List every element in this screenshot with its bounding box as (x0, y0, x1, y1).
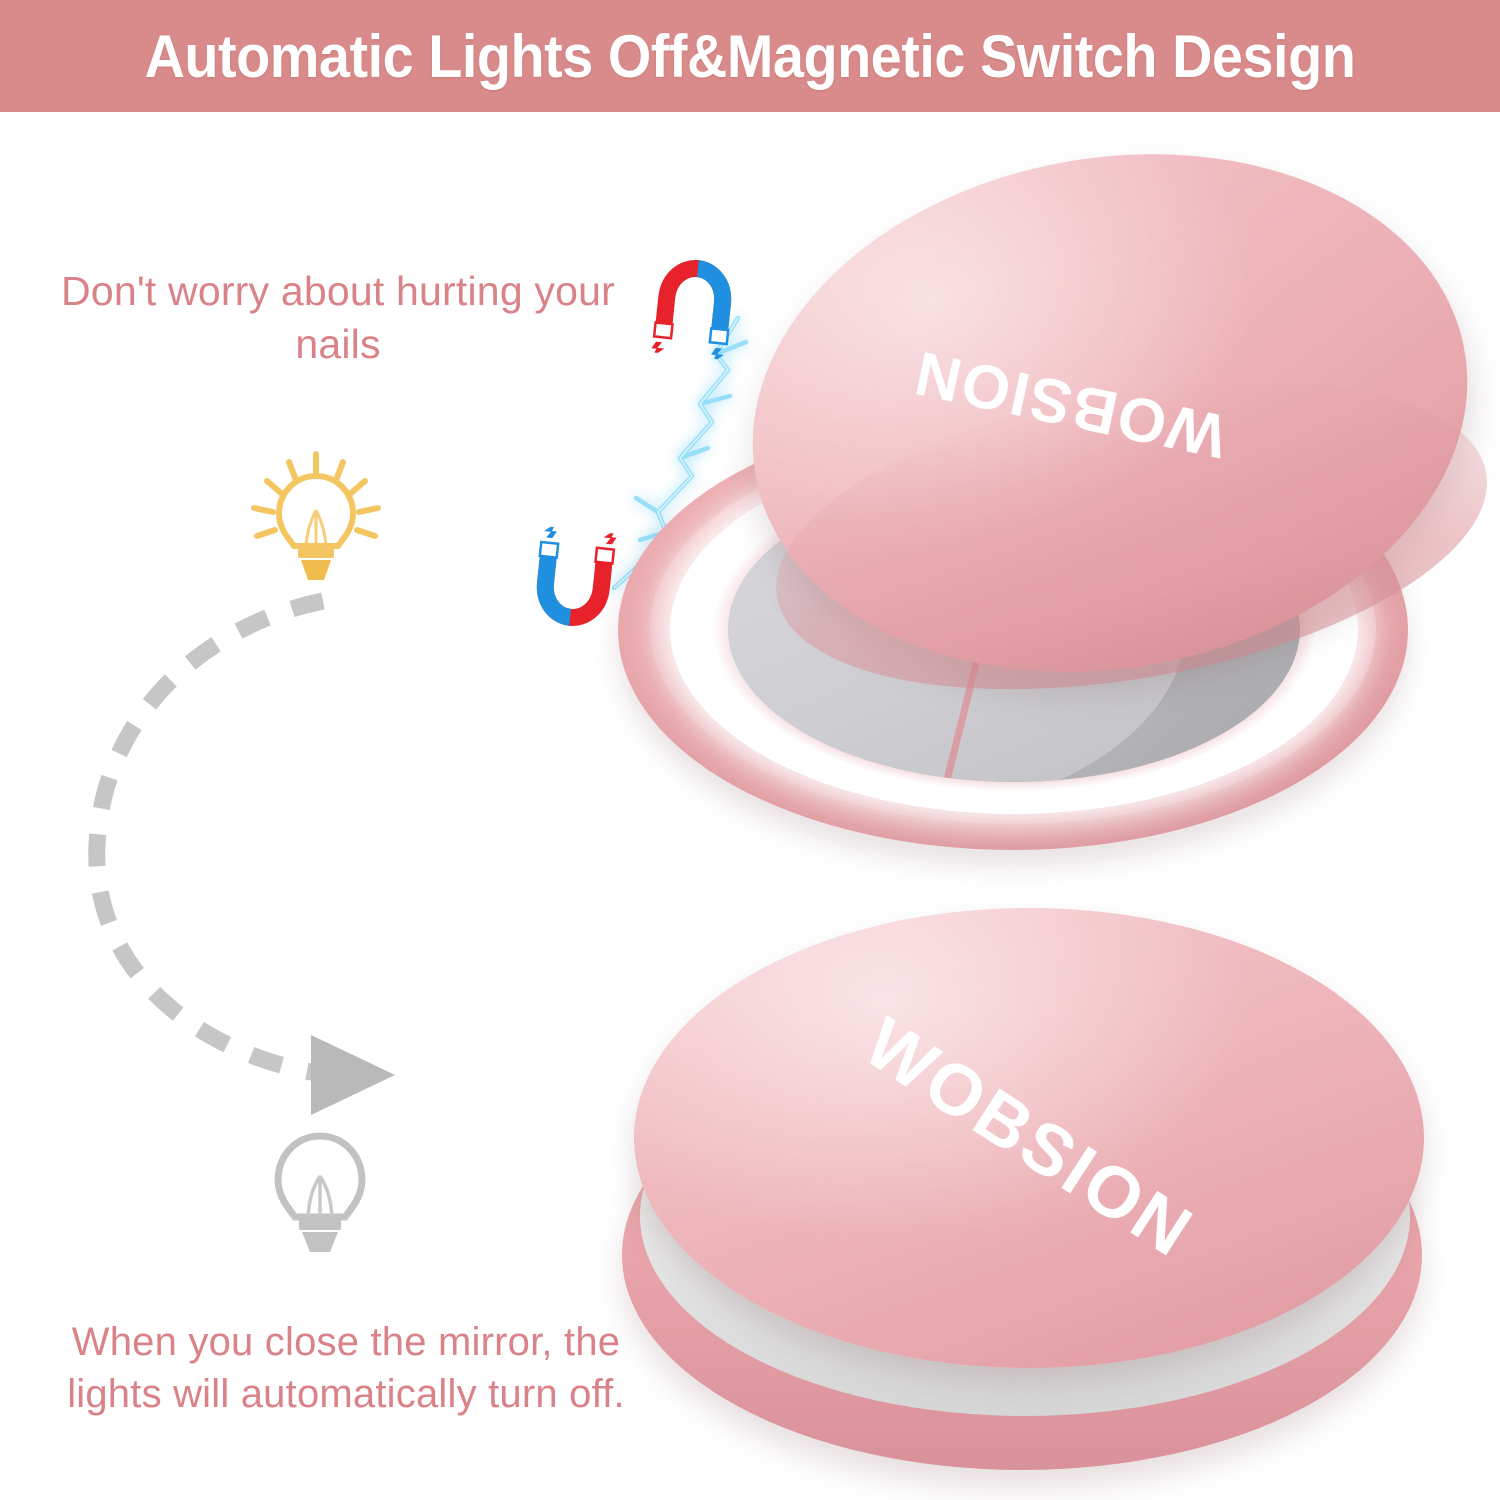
closed-compact-mirror: WOBSION (600, 890, 1460, 1490)
brand-logo: WOBSION (908, 336, 1233, 471)
caption-no-nail-damage: Don't worry about hurting your nails (58, 265, 618, 372)
product-feature-image: Automatic Lights Off&Magnetic Switch Des… (0, 0, 1500, 1500)
closed-mirror-lid: WOBSION (634, 908, 1424, 1368)
caption-auto-lights-off: When you close the mirror, the lights wi… (48, 1316, 644, 1420)
banner-title: Automatic Lights Off&Magnetic Switch Des… (145, 22, 1356, 91)
brand-logo: WOBSION (850, 1002, 1207, 1274)
open-compact-mirror: WOBSION (600, 150, 1460, 880)
lightbulb-unlit-icon (262, 1128, 378, 1256)
brand-logo-open-wrap: WOBSION (900, 260, 1240, 560)
header-banner: Automatic Lights Off&Magnetic Switch Des… (0, 0, 1500, 112)
curved-dashed-arrow-icon (55, 565, 455, 1125)
